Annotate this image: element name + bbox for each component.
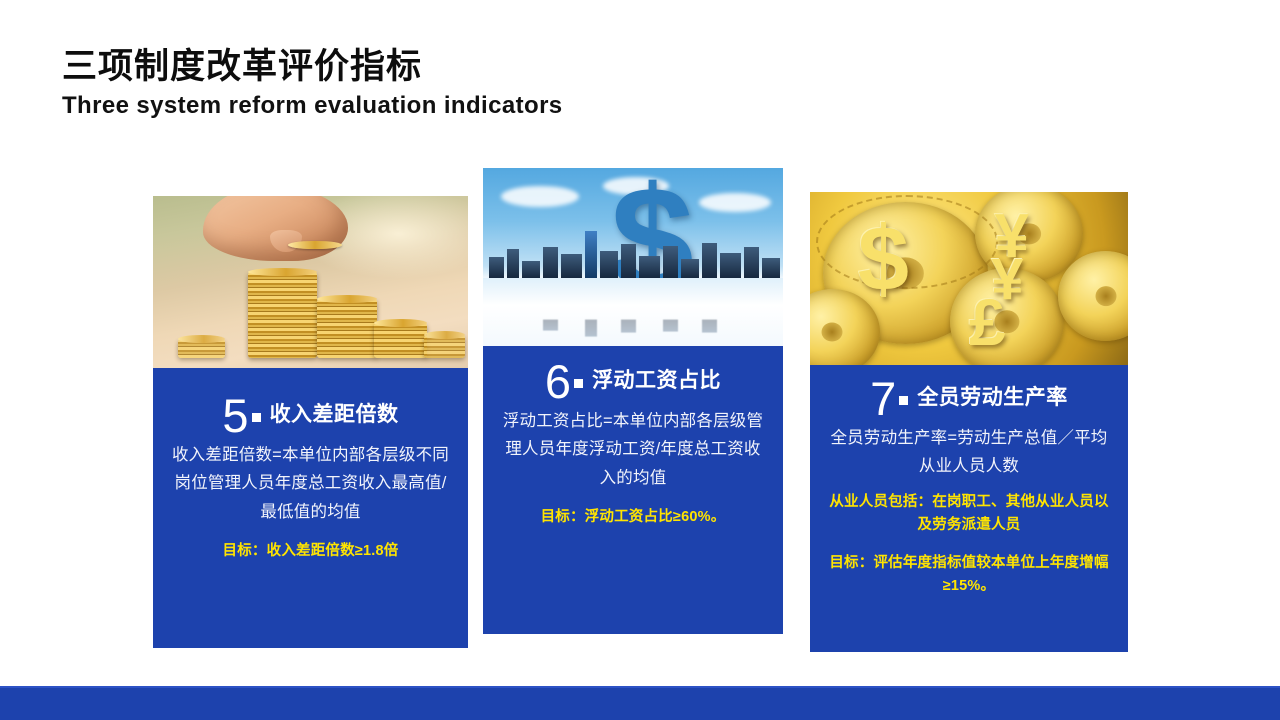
indicator-card-6[interactable]: $ — [483, 168, 783, 634]
indicator-formula: 全员劳动生产率=劳动生产总值／平均从业人员人数 — [826, 424, 1112, 481]
square-bullet-icon — [899, 396, 908, 405]
indicator-goal: 目标：浮动工资占比≥60%。 — [499, 506, 767, 529]
pound-sign-icon: £ — [969, 289, 1006, 355]
indicator-number: 5 — [222, 389, 248, 442]
coin-stack-small-left — [178, 339, 225, 358]
slide-root: 三项制度改革评价指标 Three system reform evaluatio… — [0, 0, 1280, 720]
hand-icon — [203, 196, 348, 261]
indicator-card-7-heading: 7全员劳动生产率 — [826, 375, 1112, 422]
indicator-card-6-heading: 6浮动工资占比 — [499, 358, 767, 405]
indicator-title: 浮动工资占比 — [592, 369, 721, 392]
indicator-card-6-body: 6浮动工资占比 浮动工资占比=本单位内部各层级管理人员年度浮动工资/年度总工资收… — [483, 346, 783, 634]
indicator-card-5[interactable]: 5收入差距倍数 收入差距倍数=本单位内部各层级不同岗位管理人员年度总工资收入最高… — [153, 196, 468, 648]
skyline-reflection-shape — [483, 320, 783, 338]
footer-bar — [0, 686, 1280, 720]
coin-stack-tall — [248, 272, 317, 358]
dollar-sign-icon: $ — [858, 213, 909, 305]
indicator-goal: 目标：评估年度指标值较本单位上年度增幅≥15%。 — [826, 552, 1112, 598]
coin-stack-short — [374, 323, 428, 357]
slide-header: 三项制度改革评价指标 Three system reform evaluatio… — [62, 46, 962, 121]
indicator-card-7[interactable]: $ ¥ ¥ £ 7全员劳动生产率 全员劳动生产率=劳动生产总值／平均从业人员人数… — [810, 192, 1128, 652]
indicator-title: 全员劳动生产率 — [917, 386, 1068, 409]
page-title-chinese: 三项制度改革评价指标 — [62, 46, 962, 87]
square-bullet-icon — [252, 413, 261, 422]
coins-stack-photo — [153, 196, 468, 368]
city-skyline-shape — [483, 229, 783, 279]
coin-stack-small-right — [424, 335, 465, 357]
indicator-card-7-body: 7全员劳动生产率 全员劳动生产率=劳动生产总值／平均从业人员人数 从业人员包括：… — [810, 365, 1128, 652]
indicator-goal: 目标：收入差距倍数≥1.8倍 — [169, 540, 452, 563]
coin-stack-mid — [317, 299, 377, 357]
indicator-note: 从业人员包括：在岗职工、其他从业人员以及劳务派遣人员 — [826, 491, 1112, 538]
golden-gears-currency-photo: $ ¥ ¥ £ — [810, 192, 1128, 365]
indicator-card-5-body: 5收入差距倍数 收入差距倍数=本单位内部各层级不同岗位管理人员年度总工资收入最高… — [153, 368, 468, 648]
indicator-card-5-heading: 5收入差距倍数 — [169, 392, 452, 439]
water-reflection — [483, 278, 783, 346]
page-subtitle-english: Three system reform evaluation indicator… — [62, 91, 962, 121]
cloud-icon — [699, 193, 771, 213]
indicator-number: 7 — [870, 372, 896, 425]
square-bullet-icon — [574, 379, 583, 388]
indicator-formula: 收入差距倍数=本单位内部各层级不同岗位管理人员年度总工资收入最高值/最低值的均值 — [169, 441, 452, 526]
city-skyline-dollar-photo: $ — [483, 168, 783, 346]
indicator-title: 收入差距倍数 — [270, 403, 399, 426]
cloud-icon — [501, 186, 579, 207]
indicator-formula: 浮动工资占比=本单位内部各层级管理人员年度浮动工资/年度总工资收入的均值 — [499, 407, 767, 492]
indicator-number: 6 — [545, 355, 571, 408]
